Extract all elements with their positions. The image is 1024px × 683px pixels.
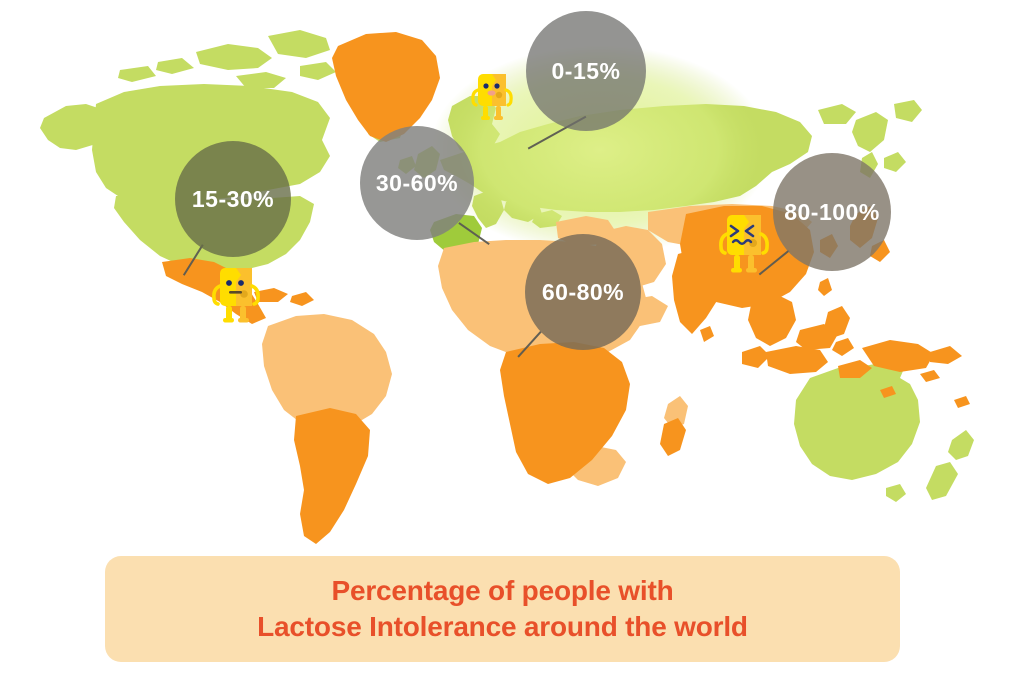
percentage-bubble-60-80[interactable]: 60-80%	[525, 234, 641, 350]
percentage-bubble-15-30[interactable]: 15-30%	[175, 141, 291, 257]
percentage-bubble-label: 80-100%	[784, 201, 880, 224]
cheese-character-neutral	[208, 258, 264, 328]
caption-line-2: Lactose Intolerance around the world	[257, 609, 748, 645]
percentage-bubble-label: 30-60%	[376, 172, 458, 195]
percentage-bubble-label: 15-30%	[192, 188, 274, 211]
percentage-bubble-30-60[interactable]: 30-60%	[360, 126, 474, 240]
caption-line-1: Percentage of people with	[332, 573, 674, 609]
percentage-bubble-80-100[interactable]: 80-100%	[773, 153, 891, 271]
cheese-character-happy	[468, 64, 516, 126]
percentage-bubble-label: 60-80%	[542, 281, 624, 304]
caption-box: Percentage of people with Lactose Intole…	[105, 556, 900, 662]
lactose-intolerance-infographic: 0-15% 15-30% 30-60% 60-80% 80-100% Perce…	[0, 0, 1024, 683]
percentage-bubble-0-15[interactable]: 0-15%	[526, 11, 646, 131]
cheese-character-distressed	[715, 205, 773, 279]
percentage-bubble-label: 0-15%	[552, 60, 621, 83]
